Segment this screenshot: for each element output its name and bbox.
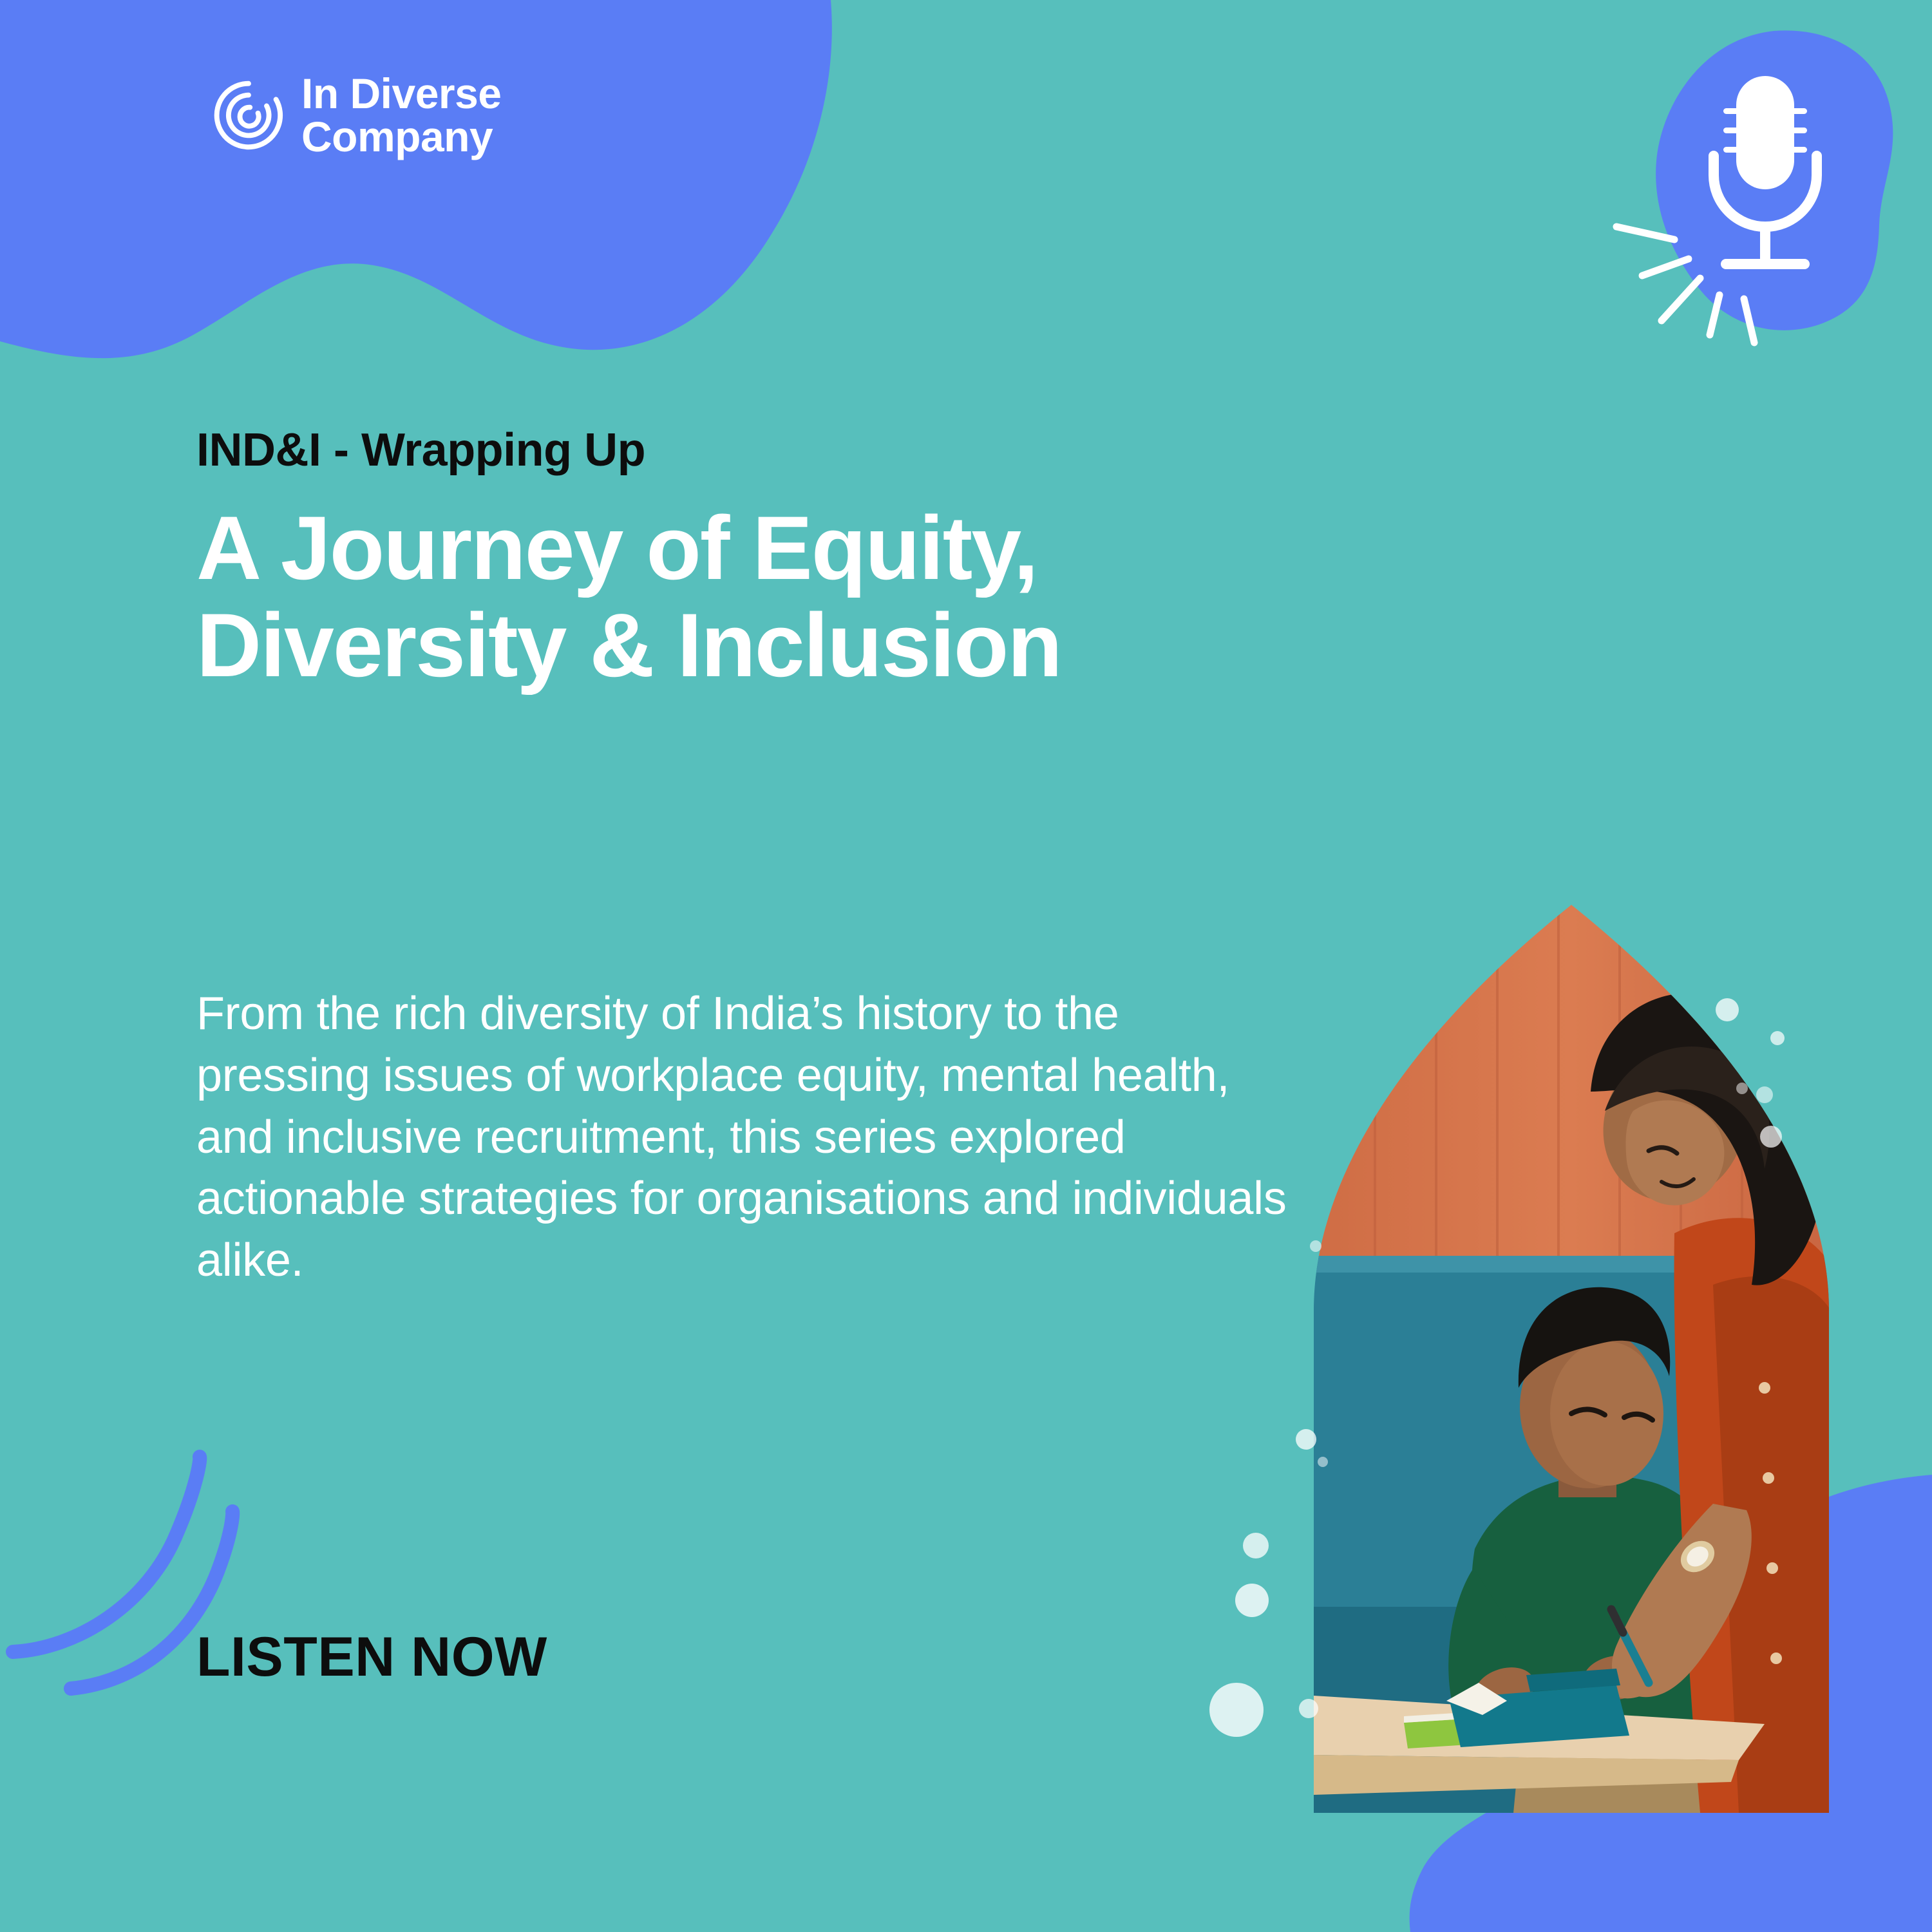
copy-block: IND&I - Wrapping Up A Journey of Equity,… <box>196 425 1330 694</box>
decorative-dot <box>1243 1533 1269 1558</box>
eyebrow-text: IND&I - Wrapping Up <box>196 425 1330 476</box>
decorative-dot <box>1296 1429 1316 1450</box>
decorative-dot <box>1760 1126 1782 1148</box>
brand-lockup[interactable]: In Diverse Company <box>213 72 502 159</box>
decorative-dot <box>1736 1083 1748 1094</box>
microphone-badge[interactable] <box>1597 13 1932 374</box>
decorative-dot <box>1716 998 1739 1021</box>
decorative-dot <box>1299 1699 1318 1718</box>
page-title: A Journey of Equity, Diversity & Inclusi… <box>196 499 1330 694</box>
spiral-soundwave-icon <box>213 79 285 151</box>
body-paragraph: From the rich diversity of India’s histo… <box>196 983 1291 1292</box>
decorative-dot <box>1310 1240 1321 1252</box>
brand-name: In Diverse Company <box>301 72 502 159</box>
decorative-dot <box>1235 1584 1269 1617</box>
decorative-dot <box>1318 1457 1328 1467</box>
decorative-dot <box>1756 1086 1773 1103</box>
decorative-dot <box>1209 1683 1264 1737</box>
decorative-dot <box>1770 1031 1785 1045</box>
social-post-canvas: In Diverse Company IND&I - Wrapping Up A… <box>0 0 1932 1932</box>
listen-now-cta[interactable]: LISTEN NOW <box>196 1629 547 1685</box>
